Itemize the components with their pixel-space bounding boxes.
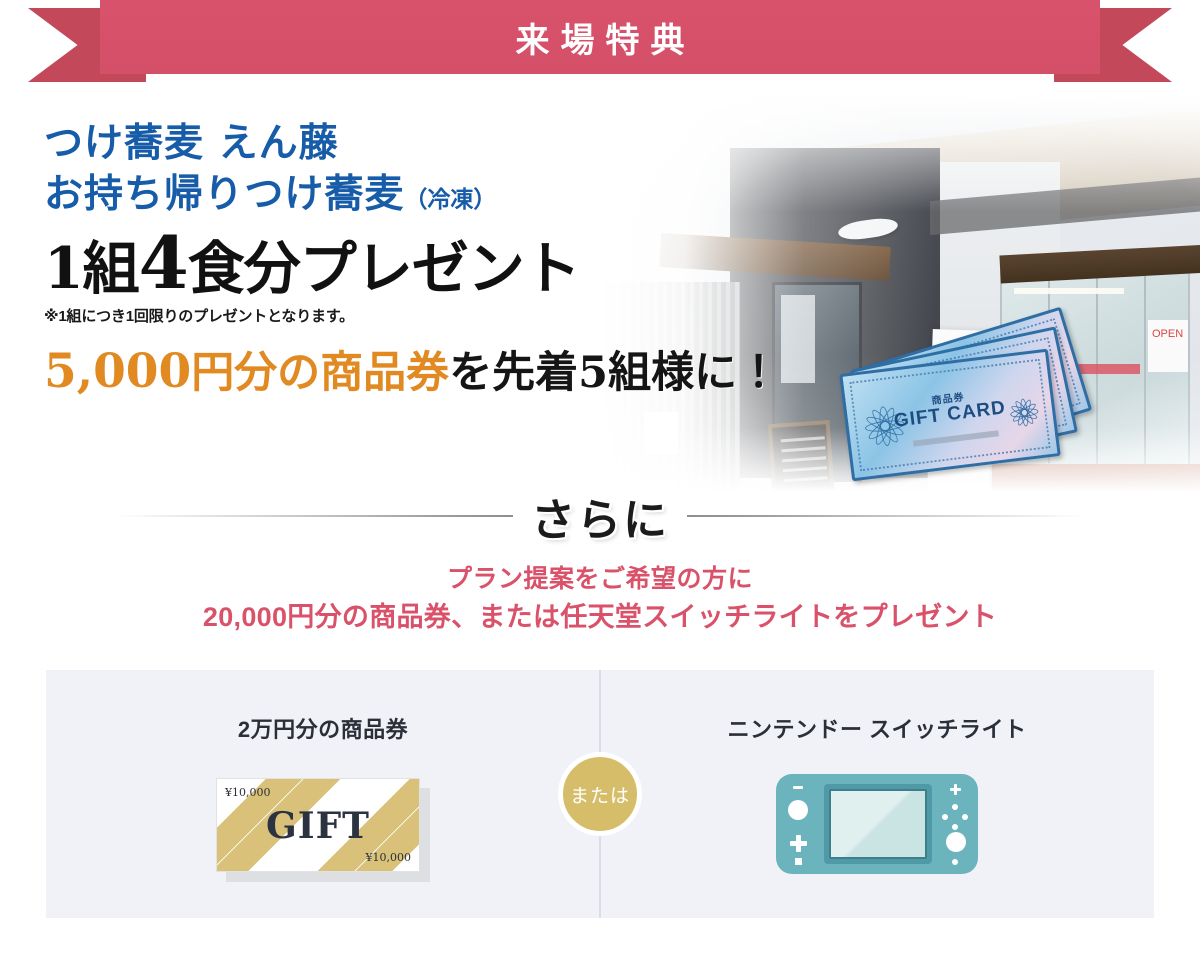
or-badge: または bbox=[558, 752, 642, 836]
gift-certificate-line: 5,000円分の商品券を先着5組様に！ bbox=[44, 346, 684, 398]
ribbon-header: 来場特典 bbox=[0, 0, 1200, 92]
headline-prefix: 1組 bbox=[44, 235, 139, 302]
gift-amount: 5,000円分の商品券 bbox=[44, 348, 449, 398]
gift-voucher-graphic: 商品券 GIFT CARD bbox=[845, 335, 1095, 485]
plan-lead-line2: 20,000円分の商品券、または任天堂スイッチライトをプレゼント bbox=[0, 598, 1200, 636]
plan-lead-line1: プラン提案をご希望の方に bbox=[0, 562, 1200, 598]
certificate-amount-bottom: ¥10,000 bbox=[366, 851, 412, 864]
plan-lead: プラン提案をご希望の方に 20,000円分の商品券、または任天堂スイッチライトを… bbox=[0, 562, 1200, 636]
home-button-icon bbox=[952, 859, 958, 865]
face-buttons-icon bbox=[942, 804, 968, 830]
certificate-amount-top: ¥10,000 bbox=[225, 786, 271, 799]
minus-button-icon bbox=[793, 786, 803, 789]
choices-panel: 2万円分の商品券 ¥10,000 GIFT ¥10,000 または ニンテンドー… bbox=[46, 670, 1154, 918]
right-analog-stick-icon bbox=[946, 832, 966, 852]
offer-note: ※1組につき1回限りのプレゼントとなります。 bbox=[44, 305, 684, 326]
shop-name-line1: つけ蕎麦 えん藤 bbox=[44, 118, 684, 169]
promotion-banner: 来場特典 OPEN bbox=[0, 0, 1200, 965]
frozen-note: （冷凍） bbox=[404, 186, 496, 213]
divider-rule-right bbox=[687, 515, 1087, 517]
shop-name-line2: お持ち帰りつけ蕎麦（冷凍） bbox=[44, 169, 684, 220]
divider-rule-left bbox=[113, 515, 513, 517]
shop-name-line2-main: お持ち帰りつけ蕎麦 bbox=[44, 171, 404, 217]
choice-right-title: ニンテンドー スイッチライト bbox=[727, 712, 1026, 744]
device-screen bbox=[824, 784, 932, 864]
shop-name: つけ蕎麦 えん藤 お持ち帰りつけ蕎麦（冷凍） bbox=[44, 118, 684, 221]
headline-number: 4 bbox=[139, 220, 188, 305]
switch-lite-illustration bbox=[776, 774, 978, 874]
capture-button-icon bbox=[795, 858, 802, 865]
choice-gift-certificate[interactable]: 2万円分の商品券 ¥10,000 GIFT ¥10,000 bbox=[46, 670, 600, 918]
choice-switch-lite[interactable]: ニンテンドー スイッチライト bbox=[600, 670, 1154, 918]
sarani-divider: さらに bbox=[0, 483, 1200, 549]
offer-headline: 1組4食分プレゼント bbox=[44, 225, 684, 301]
ribbon-band: 来場特典 bbox=[100, 0, 1100, 74]
plus-button-icon bbox=[950, 784, 961, 795]
left-analog-stick-icon bbox=[788, 800, 808, 820]
gift-amount-number: 5,000 bbox=[44, 344, 191, 399]
or-badge-label: または bbox=[570, 781, 630, 808]
choice-left-title: 2万円分の商品券 bbox=[238, 712, 408, 744]
offer-copy: つけ蕎麦 えん藤 お持ち帰りつけ蕎麦（冷凍） 1組4食分プレゼント ※1組につき… bbox=[44, 118, 684, 397]
gift-line-rest: を先着5組様に！ bbox=[449, 348, 780, 398]
gift-amount-unit: 円分の商品券 bbox=[191, 348, 449, 398]
dpad-icon bbox=[790, 835, 807, 852]
ribbon-title: 来場特典 bbox=[505, 13, 696, 62]
gift-certificate-illustration: ¥10,000 GIFT ¥10,000 bbox=[216, 778, 430, 882]
certificate-word: GIFT bbox=[217, 805, 419, 847]
headline-suffix: 食分プレゼント bbox=[188, 235, 580, 302]
divider-word: さらに bbox=[531, 484, 669, 548]
